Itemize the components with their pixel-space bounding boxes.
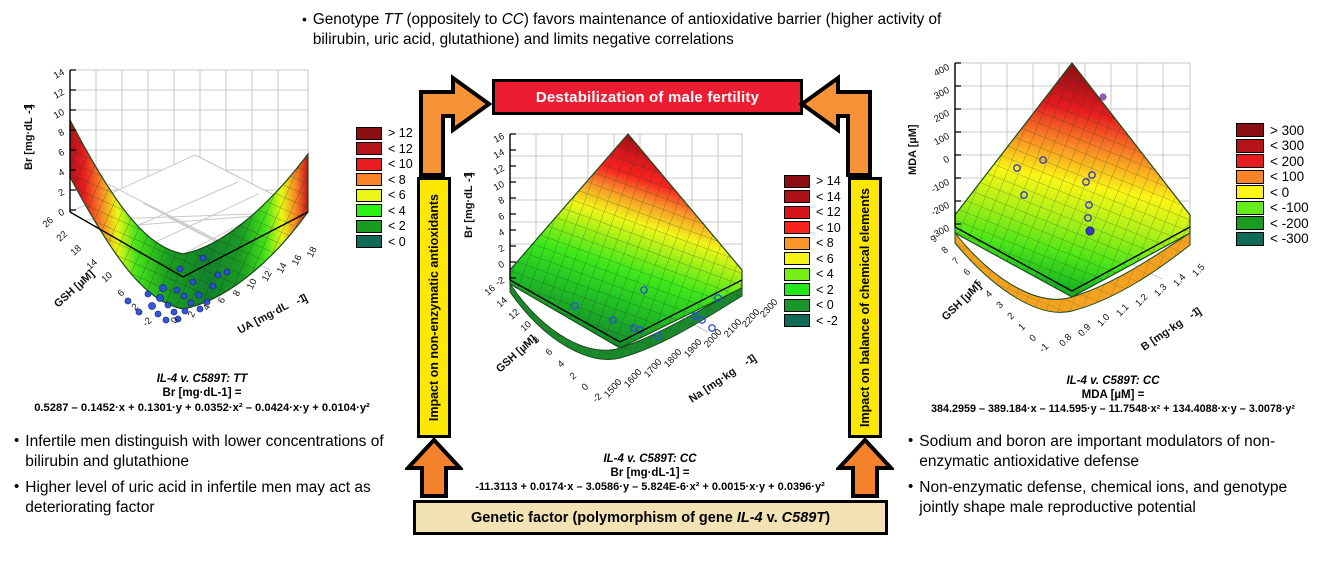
legend-label: > 12 [388, 126, 413, 140]
svg-text:8: 8 [939, 245, 950, 257]
legend-swatch [356, 142, 382, 155]
legend-label: < 0 [388, 235, 406, 249]
legend-label: < 100 [1270, 169, 1304, 184]
svg-text:7: 7 [950, 256, 961, 268]
legend-swatch [356, 204, 382, 217]
svg-text:-200: -200 [929, 200, 951, 219]
legend-item: < 2 [784, 283, 841, 298]
svg-text:1800: 1800 [662, 347, 684, 370]
svg-text:-1: -1 [1037, 341, 1051, 355]
legend-item: < 10 [356, 157, 413, 172]
arrow-right-to-banner [796, 72, 876, 177]
svg-text:10: 10 [245, 277, 260, 292]
svg-text:-2: -2 [141, 315, 155, 329]
center-yaxis-label: Na [mg·kg [687, 365, 738, 405]
svg-text:1.1: 1.1 [1114, 302, 1131, 319]
legend-left: > 12 < 12 < 10 < 8 < 6 < 4 < 2 < 0 [356, 126, 413, 250]
legend-item: < 14 [784, 190, 841, 205]
caption-center: IL-4 v. C589T: CC Br [mg·dL-1] = -11.311… [440, 452, 860, 495]
svg-text:4: 4 [983, 289, 994, 301]
chart-right-mda-surface: 400 300 200 100 0 -100 -200 -300 MDA [µM… [900, 55, 1240, 375]
legend-swatch [1236, 139, 1264, 153]
svg-text:4: 4 [497, 227, 507, 239]
legend-label: < 0 [816, 298, 834, 312]
bullet-item: • Infertile men distinguish with lower c… [14, 432, 394, 471]
impact-bar-elements-label: Impact on balance of chemical elements [858, 188, 872, 427]
legend-swatch [1236, 232, 1264, 246]
svg-text:]: ] [23, 104, 35, 108]
legend-label: < 8 [388, 173, 406, 187]
legend-label: < 2 [816, 283, 834, 297]
impact-bar-elements: Impact on balance of chemical elements [848, 177, 882, 438]
svg-text:4: 4 [57, 167, 67, 179]
caption-center-title: IL-4 v. C589T: CC [440, 452, 860, 466]
caption-center-var: Br [mg·dL-1] = [440, 466, 860, 480]
caption-left-equation: 0.5287 – 0.1452·x + 0.1301·y + 0.0352·x²… [0, 401, 404, 415]
svg-text:6: 6 [544, 347, 555, 359]
legend-label: < 0 [1270, 185, 1289, 200]
legend-label: < -100 [1270, 200, 1309, 215]
svg-text:2: 2 [497, 243, 507, 255]
legend-item: < -200 [1236, 216, 1309, 231]
legend-label: < 200 [1270, 154, 1304, 169]
legend-swatch [784, 268, 810, 281]
legend-swatch [784, 221, 810, 234]
svg-text:12: 12 [260, 269, 275, 284]
legend-item: < 6 [356, 188, 413, 203]
legend-swatch [356, 173, 382, 186]
right-yaxis-label: B [mg·kg [1139, 317, 1185, 354]
svg-text:1600: 1600 [622, 367, 644, 390]
legend-item: < -2 [784, 314, 841, 329]
legend-item: < 2 [356, 219, 413, 234]
legend-label: < 6 [388, 188, 406, 202]
legend-item: < -300 [1236, 232, 1309, 247]
bullet-text: Higher level of uric acid in infertile m… [25, 478, 394, 517]
center-zaxis-label: Br [mg·dL [463, 185, 475, 238]
legend-swatch [356, 220, 382, 233]
svg-text:4: 4 [556, 359, 567, 371]
svg-text:0.8: 0.8 [1057, 332, 1074, 349]
legend-item: < 300 [1236, 139, 1309, 154]
legend-label: < 6 [816, 252, 834, 266]
bullets-left: • Infertile men distinguish with lower c… [14, 432, 394, 524]
legend-label: < 10 [816, 221, 841, 235]
legend-item: < -100 [1236, 201, 1309, 216]
legend-item: < 4 [356, 204, 413, 219]
svg-text:0: 0 [57, 207, 67, 219]
center-xaxis-label: GSH [µM] [494, 333, 539, 375]
bullet-icon: • [14, 432, 19, 471]
left-zaxis-label: Br [mg·dL [23, 117, 35, 170]
legend-swatch [1236, 201, 1264, 215]
left-yaxis-label: UA [mg·dL [236, 300, 291, 337]
legend-label: < 2 [388, 219, 406, 233]
svg-text:10: 10 [100, 270, 115, 285]
svg-text:2300: 2300 [758, 297, 780, 320]
genetic-factor-banner: Genetic factor (polymorphism of gene IL-… [413, 500, 888, 535]
legend-item: > 14 [784, 174, 841, 189]
impact-bar-antioxidants-label: Impact on non-enzymatic antioxidants [427, 194, 441, 421]
svg-text:8: 8 [57, 127, 67, 139]
svg-text:10: 10 [519, 319, 534, 334]
legend-swatch [356, 158, 382, 171]
svg-text:1.0: 1.0 [1095, 312, 1112, 329]
svg-text:1900: 1900 [682, 337, 704, 360]
legend-label: < 14 [816, 190, 841, 204]
impact-bar-antioxidants: Impact on non-enzymatic antioxidants [417, 177, 451, 438]
legend-item: < 0 [1236, 185, 1309, 200]
svg-text:3: 3 [994, 300, 1005, 312]
legend-label: < -300 [1270, 231, 1309, 246]
legend-right: > 300 < 300 < 200 < 100 < 0 < -100 < -20… [1236, 123, 1309, 247]
svg-text:14: 14 [492, 147, 507, 162]
svg-text:12: 12 [507, 307, 522, 322]
legend-swatch [1236, 154, 1264, 168]
legend-swatch [1236, 216, 1264, 230]
legend-item: > 300 [1236, 123, 1309, 138]
legend-item: < 12 [356, 142, 413, 157]
svg-text:-100: -100 [929, 177, 951, 196]
svg-text:0.9: 0.9 [1076, 322, 1093, 339]
svg-text:14: 14 [495, 295, 510, 310]
svg-text:14: 14 [52, 67, 67, 82]
legend-swatch [784, 314, 810, 327]
legend-label: < 8 [816, 236, 834, 250]
legend-label: > 14 [816, 174, 841, 188]
svg-text:6: 6 [961, 267, 972, 279]
legend-label: > 300 [1270, 123, 1304, 138]
svg-text:1.4: 1.4 [1171, 272, 1188, 289]
legend-label: < 300 [1270, 138, 1304, 153]
caption-right-equation: 384.2959 – 389.184·x – 114.595·y – 11.75… [898, 403, 1328, 416]
bullet-text: Infertile men distinguish with lower con… [25, 432, 394, 471]
svg-text:6: 6 [216, 296, 228, 306]
legend-swatch [784, 206, 810, 219]
bullet-text: Sodium and boron are important modulator… [919, 432, 1308, 471]
legend-label: < -2 [816, 314, 838, 328]
svg-text:100: 100 [932, 131, 951, 148]
right-zaxis-label: MDA [µM] [907, 124, 919, 175]
svg-text:6: 6 [57, 147, 67, 159]
bullet-icon: • [908, 432, 913, 471]
legend-swatch [784, 299, 810, 312]
legend-item: < 6 [784, 252, 841, 267]
svg-text:0: 0 [1027, 333, 1038, 345]
legend-label: < -200 [1270, 216, 1309, 231]
bullet-item: • Higher level of uric acid in infertile… [14, 478, 394, 517]
legend-label: < 12 [816, 205, 841, 219]
legend-swatch [784, 190, 810, 203]
svg-text:8: 8 [231, 289, 243, 299]
svg-text:6: 6 [497, 211, 507, 223]
legend-item: < 12 [784, 205, 841, 220]
bullets-right: • Sodium and boron are important modulat… [908, 432, 1308, 524]
svg-text:6: 6 [116, 288, 127, 300]
svg-text:]: ] [463, 172, 475, 176]
svg-text:18: 18 [69, 243, 84, 258]
svg-text:18: 18 [305, 245, 320, 260]
legend-label: < 10 [388, 157, 413, 171]
bullet-item: • Sodium and boron are important modulat… [908, 432, 1308, 471]
svg-text:12: 12 [492, 163, 507, 178]
legend-item: < 100 [1236, 170, 1309, 185]
legend-item: < 0 [784, 298, 841, 313]
legend-item: < 8 [356, 173, 413, 188]
caption-center-equation: -11.3113 + 0.0174·x – 3.0586·y – 5.824E-… [440, 481, 860, 495]
legend-item: < 8 [784, 236, 841, 251]
svg-text:1.5: 1.5 [1190, 262, 1207, 279]
legend-swatch [356, 127, 382, 140]
svg-text:16: 16 [492, 131, 507, 146]
genetic-factor-label: Genetic factor (polymorphism of gene IL-… [471, 510, 830, 526]
svg-text:22: 22 [55, 229, 70, 244]
svg-text:0: 0 [942, 154, 952, 166]
left-xaxis-label: GSH [µM] [52, 268, 97, 310]
svg-text:16: 16 [483, 283, 498, 298]
top-note: • Genotype TT (oppositely to CC) favors … [302, 10, 1002, 50]
legend-swatch [784, 283, 810, 296]
bullet-icon: • [302, 10, 307, 50]
legend-item: < 0 [356, 235, 413, 250]
svg-text:8: 8 [497, 195, 507, 207]
caption-left-title: IL-4 v. C589T: TT [0, 372, 404, 386]
caption-right-var: MDA [µM] = [898, 388, 1328, 402]
svg-text:0: 0 [580, 382, 591, 394]
legend-center: > 14 < 14 < 12 < 10 < 8 < 6 < 4 < 2 < 0 … [784, 174, 841, 329]
top-note-text: Genotype TT (oppositely to CC) favors ma… [313, 10, 1002, 50]
svg-text:26: 26 [41, 215, 56, 230]
svg-text:-2: -2 [494, 275, 507, 289]
svg-text:400: 400 [932, 62, 951, 79]
legend-swatch [784, 175, 810, 188]
chart-left-br-surface: 14 12 10 8 6 4 2 0 Br [mg·dL -1 ] 26 22 … [8, 62, 358, 367]
svg-text:10: 10 [52, 107, 67, 122]
svg-text:14: 14 [275, 261, 290, 276]
legend-swatch [1236, 185, 1264, 199]
svg-text:16: 16 [290, 253, 305, 268]
destabilization-banner: Destabilization of male fertility [492, 79, 803, 115]
caption-right: IL-4 v. C589T: CC MDA [µM] = 384.2959 – … [898, 374, 1328, 416]
legend-item: > 12 [356, 126, 413, 141]
svg-text:1500: 1500 [602, 377, 624, 400]
caption-left-var: Br [mg·dL-1] = [0, 386, 404, 400]
svg-text:1.2: 1.2 [1133, 292, 1150, 309]
svg-text:200: 200 [932, 108, 951, 125]
svg-text:300: 300 [932, 85, 951, 102]
svg-text:2: 2 [57, 187, 67, 199]
svg-text:1700: 1700 [642, 357, 664, 380]
legend-label: < 4 [816, 267, 834, 281]
legend-label: < 4 [388, 204, 406, 218]
right-xaxis-label: GSH [µM] [940, 280, 984, 323]
legend-swatch [356, 235, 382, 248]
legend-swatch [1236, 123, 1264, 137]
legend-label: < 12 [388, 142, 413, 156]
legend-item: < 200 [1236, 154, 1309, 169]
legend-item: < 10 [784, 221, 841, 236]
legend-swatch [356, 189, 382, 202]
legend-item: < 4 [784, 267, 841, 282]
caption-left: IL-4 v. C589T: TT Br [mg·dL-1] = 0.5287 … [0, 372, 404, 415]
bullet-text: Non-enzymatic defense, chemical ions, an… [919, 478, 1308, 517]
bullet-item: • Non-enzymatic defense, chemical ions, … [908, 478, 1308, 517]
svg-text:1.3: 1.3 [1152, 282, 1169, 299]
svg-text:2: 2 [568, 371, 579, 383]
legend-swatch [784, 237, 810, 250]
bullet-icon: • [14, 478, 19, 517]
legend-swatch [784, 252, 810, 265]
svg-text:12: 12 [52, 87, 67, 102]
svg-text:0: 0 [497, 259, 507, 271]
chart-center-br-surface: 16 14 12 10 8 6 4 2 0 -2 Br [mg·dL -1 ] … [450, 120, 790, 420]
svg-text:1: 1 [1016, 322, 1027, 334]
svg-text:10: 10 [492, 179, 507, 194]
bullet-icon: • [908, 478, 913, 517]
svg-text:2: 2 [1005, 311, 1016, 323]
caption-right-title: IL-4 v. C589T: CC [898, 374, 1328, 388]
legend-swatch [1236, 170, 1264, 184]
svg-text:2: 2 [186, 310, 198, 320]
